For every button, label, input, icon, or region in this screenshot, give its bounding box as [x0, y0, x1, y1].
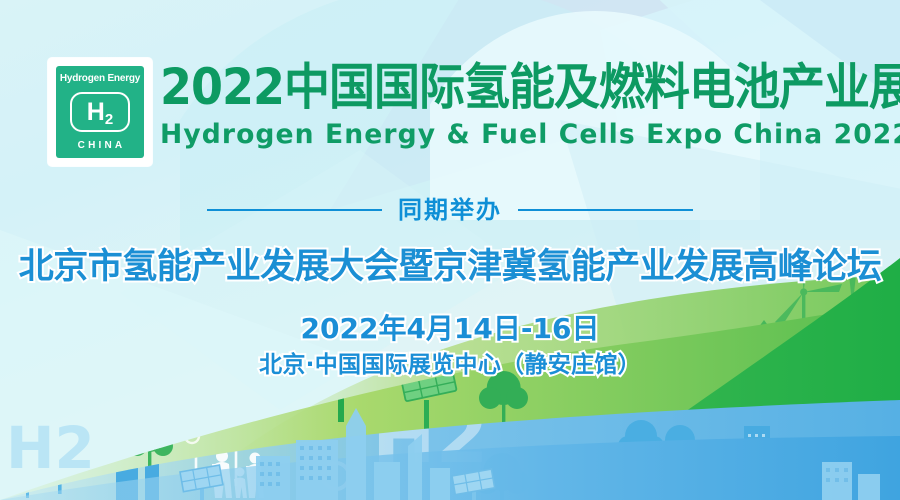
h2-symbol-icon: H 2	[70, 92, 130, 132]
divider-line-right	[518, 209, 693, 211]
event-date: 2022年4月14日-16日	[0, 313, 900, 345]
concurrent-event-label: 同期举办	[398, 198, 502, 222]
event-poster: H2	[0, 0, 900, 500]
logo-symbol-subscript: 2	[105, 112, 113, 127]
hydrogen-energy-china-logo: Hydrogen Energy H 2 CHINA	[48, 58, 152, 166]
h2-label-blue: H2	[6, 414, 95, 482]
logo-inner-panel: Hydrogen Energy H 2 CHINA	[56, 66, 144, 158]
logo-symbol-h: H	[87, 100, 105, 125]
headline-block: 2022中国国际氢能及燃料电池产业展览会 Hydrogen Energy & F…	[160, 62, 872, 148]
expo-title-en: Hydrogen Energy & Fuel Cells Expo China …	[160, 121, 861, 148]
logo-top-text: Hydrogen Energy	[60, 73, 140, 84]
logo-bottom-text: CHINA	[75, 140, 126, 151]
event-venue: 北京·中国国际展览中心（静安庄馆）	[0, 352, 900, 378]
expo-title-cn: 2022中国国际氢能及燃料电池产业展览会	[160, 62, 872, 112]
concurrent-event-divider: 同期举办	[0, 198, 900, 222]
forum-title: 北京市氢能产业发展大会暨京津冀氢能产业发展高峰论坛	[0, 248, 900, 287]
divider-line-left	[207, 209, 382, 211]
